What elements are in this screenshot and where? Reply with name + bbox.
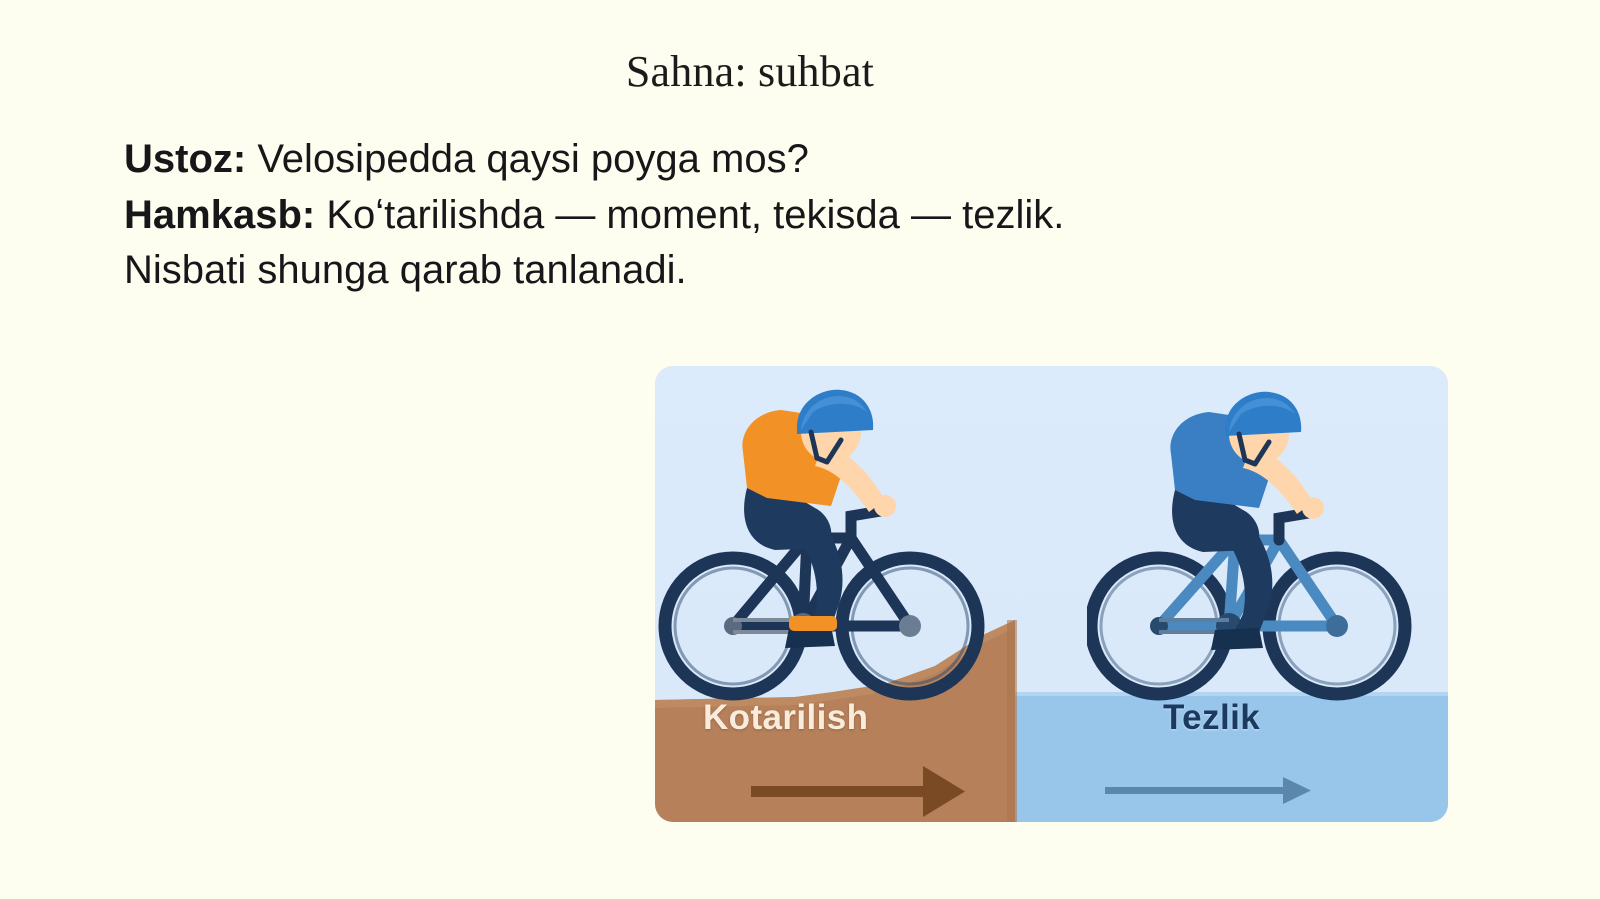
seat-tube-left <box>803 538 807 626</box>
shoe-right <box>1211 628 1263 650</box>
zone-label-kotarilish: Kotarilish <box>703 698 868 738</box>
utterance-hamkasb-continued: Nisbati shunga qarab tanlanadi. <box>124 248 687 292</box>
dialogue-line-hamkasb: Hamkasb: Koʻtarilishda — moment, tekisda… <box>124 188 1444 244</box>
page-title: Sahna: suhbat <box>0 48 1500 96</box>
speaker-label-ustoz: Ustoz: <box>124 137 246 181</box>
dialogue-line-ustoz: Ustoz: Velosipedda qaysi poyga mos? <box>124 132 1444 188</box>
rider-right <box>1170 392 1324 650</box>
utterance-ustoz: Velosipedda qaysi poyga mos? <box>246 137 809 181</box>
utterance-hamkasb: Koʻtarilishda — moment, tekisda — tezlik… <box>315 193 1064 237</box>
hand-right <box>1302 497 1324 519</box>
ankle-cuff-left <box>789 616 837 631</box>
hand-left <box>874 495 896 517</box>
speaker-label-hamkasb: Hamkasb: <box>124 193 315 237</box>
front-hub-right <box>1326 615 1348 637</box>
dialogue-block: Ustoz: Velosipedda qaysi poyga mos? Hamk… <box>124 132 1444 299</box>
slide-canvas: Sahna: suhbat Ustoz: Velosipedda qaysi p… <box>0 0 1600 899</box>
cyclist-flat <box>1087 388 1427 708</box>
illustration-panel: Kotarilish Tezlik <box>655 366 1448 822</box>
front-hub-left <box>899 615 921 637</box>
rider-left <box>742 390 896 648</box>
dialogue-line-hamkasb-cont: Nisbati shunga qarab tanlanadi. <box>124 243 1444 299</box>
zone-label-tezlik: Tezlik <box>1163 698 1260 738</box>
cyclist-uphill <box>655 388 1015 718</box>
